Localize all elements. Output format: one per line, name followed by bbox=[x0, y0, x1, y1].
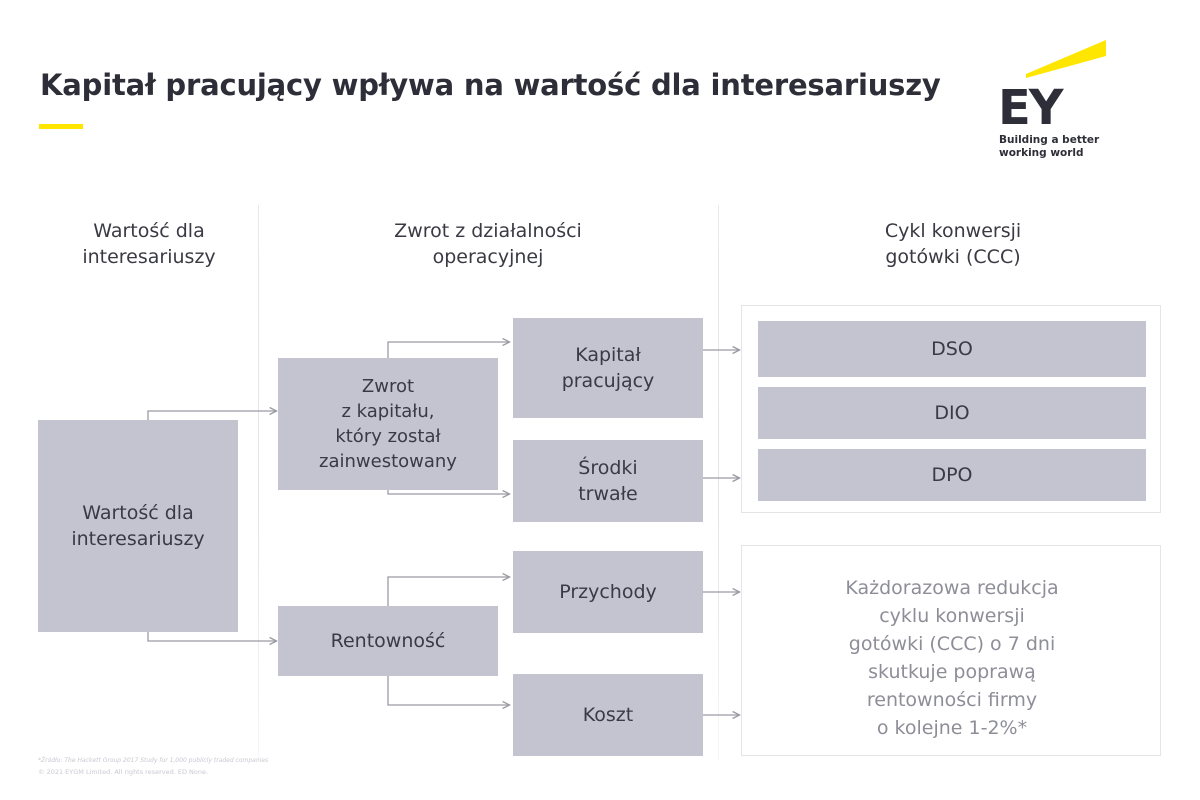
column-header-cash-conversion: Cykl konwersji gotówki (CCC) bbox=[728, 218, 1178, 270]
ey-tagline-line2: working world bbox=[999, 147, 1084, 159]
impact-statement-panel: Każdorazowa redukcja cyklu konwersji got… bbox=[741, 545, 1161, 756]
column-divider-2 bbox=[718, 205, 719, 760]
metric-bar-dpo[interactable]: DPO bbox=[758, 449, 1146, 501]
node-return-on-capital[interactable]: Zwrot z kapitału, który został zainwesto… bbox=[278, 358, 498, 490]
node-cost[interactable]: Koszt bbox=[513, 674, 703, 756]
metric-label-dpo: DPO bbox=[931, 464, 972, 486]
node-stakeholder-value[interactable]: Wartość dla interesariuszy bbox=[38, 420, 238, 632]
node-profitability[interactable]: Rentowność bbox=[278, 606, 498, 676]
metric-label-dio: DIO bbox=[934, 402, 969, 424]
footnote-source: *Źródło: The Hackett Group 2017 Study fo… bbox=[38, 757, 268, 764]
node-revenue[interactable]: Przychody bbox=[513, 551, 703, 633]
column-divider-1 bbox=[258, 205, 259, 760]
ey-tagline: Building a better working world bbox=[999, 134, 1099, 159]
node-working-capital[interactable]: Kapitał pracujący bbox=[513, 318, 703, 418]
column-header-stakeholder-value: Wartość dla interesariuszy bbox=[40, 218, 258, 270]
node-fixed-assets[interactable]: Środki trwałe bbox=[513, 440, 703, 522]
metric-bar-dso[interactable]: DSO bbox=[758, 321, 1146, 377]
page-title: Kapitał pracujący wpływa na wartość dla … bbox=[40, 68, 941, 102]
ey-wordmark: EY bbox=[998, 84, 1062, 132]
ey-beam-icon bbox=[998, 32, 1118, 80]
ey-tagline-line1: Building a better bbox=[999, 134, 1099, 146]
footnote-copyright: © 2021 EYGM Limited. All rights reserved… bbox=[38, 768, 208, 776]
metric-bar-dio[interactable]: DIO bbox=[758, 387, 1146, 439]
metric-label-dso: DSO bbox=[931, 338, 973, 360]
ccc-metrics-panel: DSO DIO DPO bbox=[741, 305, 1161, 513]
title-accent-rule bbox=[39, 124, 83, 129]
ey-logo: EY Building a better working world bbox=[998, 32, 1118, 152]
column-header-operating-return: Zwrot z działalności operacyjnej bbox=[268, 218, 708, 270]
impact-statement-text: Każdorazowa redukcja cyklu konwersji got… bbox=[762, 574, 1142, 742]
